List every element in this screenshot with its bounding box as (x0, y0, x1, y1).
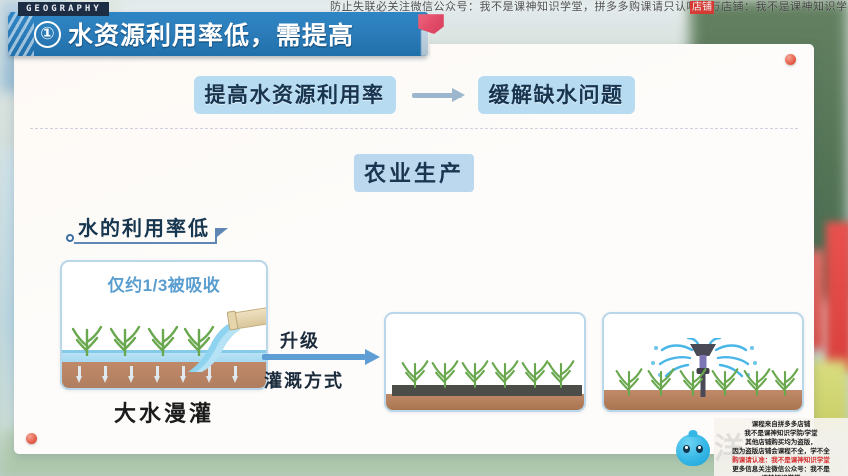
panel-flood-caption: 大水漫灌 (60, 396, 268, 428)
panel-drip-irrigation (384, 312, 586, 412)
disclaimer-line: 课程来自拼多多店铺 (717, 420, 845, 429)
flow-row: 提高水资源利用率 缓解缺水问题 (14, 76, 814, 114)
plant-icon (710, 362, 740, 396)
arrow-right-icon (262, 354, 366, 360)
banner-stripes-decoration (8, 12, 34, 56)
plant-icon (146, 320, 180, 356)
plant-icon (614, 362, 644, 396)
absorption-arrow-icon (102, 366, 108, 384)
plant-icon (400, 354, 430, 388)
marquee-banner: 防止失联必关注微信公众号：我不是课神知识学堂，拼多多购课请只认唯百万店铺：我不是… (0, 0, 848, 15)
background-poster-red (826, 222, 848, 372)
subheading-group: 水的利用率低 (66, 219, 229, 244)
section-divider (30, 128, 798, 129)
disclaimer-line: 更多信息关注微信公众号：我不是 (717, 465, 845, 474)
plant-icon (770, 362, 800, 396)
plant-icon (646, 362, 676, 396)
absorption-arrow-icon (76, 366, 82, 384)
soil-layer (386, 394, 584, 410)
panel-sprinkler-irrigation (602, 312, 804, 412)
flow-effect-label: 缓解缺水问题 (478, 76, 635, 114)
flow-cause-label: 提高水资源利用率 (194, 76, 396, 114)
mascot-eye-right-highlight (698, 446, 701, 449)
plant-icon (430, 354, 460, 388)
disclaimer-line-highlight: 购课请认准：我不是课神知识学堂 (717, 456, 845, 465)
plant-icon (460, 354, 490, 388)
section-label-row: 农业生产 (14, 154, 814, 192)
plant-icon (108, 320, 142, 356)
marquee-badge: 店铺 (690, 1, 714, 14)
subheading-label: 水的利用率低 (74, 219, 216, 244)
banner-ribbon-tail (421, 30, 430, 56)
slide-screenshot: 防止失联必关注微信公众号：我不是课神知识学堂，拼多多购课请只认唯百万店铺：我不是… (0, 0, 848, 476)
pin-icon-top-right (785, 54, 796, 65)
disclaimer-line: 其他店铺购买均为盗版， (717, 438, 845, 447)
marquee-text: 防止失联必关注微信公众号：我不是课神知识学堂，拼多多购课请只认唯百万店铺：我不是… (330, 0, 848, 15)
plant-icon (490, 354, 520, 388)
pin-icon-bottom-left (26, 433, 37, 444)
absorption-arrow-icon (128, 366, 134, 384)
upgrade-arrow-group: 升级 灌溉方式 (262, 354, 380, 360)
section-number-badge: ① (34, 21, 61, 48)
section-label: 农业生产 (354, 154, 474, 192)
plant-icon (546, 354, 576, 388)
absorption-arrow-icon (154, 366, 160, 384)
mascot-tuft (689, 430, 698, 437)
header-banner: ① 水资源利用率低，需提高 (8, 12, 428, 56)
plant-icon (678, 362, 708, 396)
disclaimer-overlay: 课程来自拼多多店铺 我不是课神知识学院/学堂 其他店铺购买均为盗版， 因为盗版店… (714, 418, 848, 476)
arrow-right-icon (412, 93, 462, 98)
disclaimer-line: 因为盗版店铺会课程不全，学不全 (717, 447, 845, 456)
bullet-dot-icon (66, 234, 74, 242)
slide-card: 提高水资源利用率 缓解缺水问题 农业生产 水的利用率低 仅约1/3被吸收 (14, 44, 814, 454)
blue-blob-mascot-icon (676, 434, 710, 466)
upgrade-arrow-top-label: 升级 (280, 327, 320, 353)
panel-flood-irrigation: 仅约1/3被吸收 (60, 260, 268, 390)
upgrade-arrow-bottom-label: 灌溉方式 (264, 367, 344, 393)
flag-icon (215, 228, 229, 244)
mascot-eye-left-highlight (685, 446, 688, 449)
plant-icon (70, 320, 104, 356)
panel-flood-title: 仅约1/3被吸收 (62, 271, 266, 296)
plant-icon (742, 362, 772, 396)
disclaimer-line: 我不是课神知识学院/学堂 (717, 429, 845, 438)
page-title: 水资源利用率低，需提高 (68, 16, 354, 52)
